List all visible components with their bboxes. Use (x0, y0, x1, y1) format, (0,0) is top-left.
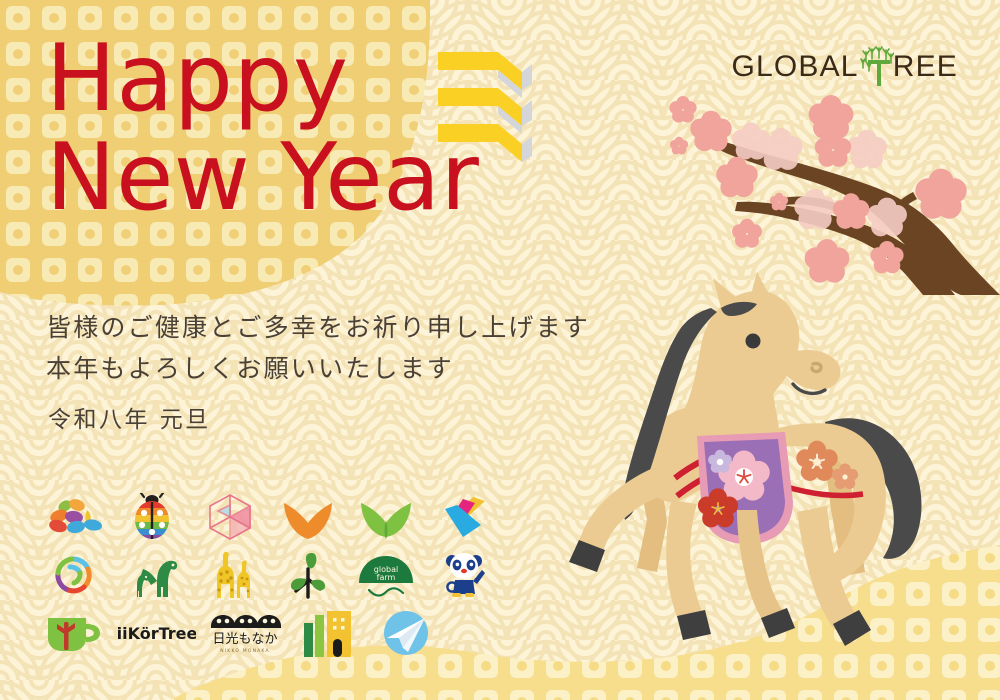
brand-name-before: GLOBAL (731, 50, 858, 84)
logo-yellow-giraffes (196, 549, 264, 601)
horse-eye (746, 334, 761, 349)
horse-front-leg-standing (666, 500, 703, 622)
logo-global-farm-line2: farm (377, 573, 396, 582)
logo-iikortree-text: iiKörTree (118, 624, 196, 643)
logo-nikko-monaka: 日光もなか NIKKO MONAKA (206, 607, 284, 659)
tree-icon (860, 46, 894, 88)
logo-abstract-petals (40, 491, 108, 543)
logo-nikko-monaka-subtext: NIKKO MONAKA (220, 648, 270, 654)
brand-logo: GLOBAL REE (731, 46, 958, 88)
headline: Happy New Year (46, 32, 479, 224)
logo-iikortree: iiKörTree (118, 607, 196, 659)
horse-ear-front (749, 272, 771, 303)
brand-name-after: REE (893, 50, 958, 84)
logo-row-1 (40, 488, 510, 546)
logo-row-2: global farm (40, 546, 510, 604)
logo-rainbow-ladybug (118, 491, 186, 543)
headline-line-2: New Year (46, 131, 479, 224)
logo-buildings (294, 607, 362, 659)
three-stacked-chevrons-icon (430, 42, 540, 162)
logo-green-cup-tree (40, 607, 108, 659)
greeting-date: 令和八年 元旦 (48, 400, 211, 434)
logo-green-dinosaurs (118, 549, 186, 601)
logo-blue-panda (430, 549, 498, 601)
logo-orange-tulip (274, 491, 342, 543)
logo-paper-plane (372, 607, 440, 659)
new-year-horse-illustration (525, 272, 1000, 662)
logo-global-farm: global farm (352, 549, 420, 601)
greeting-message: 皆様のご健康とご多幸をお祈り申し上げます 本年もよろしくお願いいたします (46, 308, 590, 389)
greeting-line-1: 皆様のご健康とご多幸をお祈り申し上げます (46, 308, 590, 349)
greeting-line-2: 本年もよろしくお願いいたします (46, 349, 590, 390)
partner-logo-grid: global farm (40, 488, 510, 662)
logo-green-leaves (352, 491, 420, 543)
cherry-blossom-branch-illustration (655, 90, 1000, 295)
logo-pink-cube (196, 491, 264, 543)
new-year-card: Happy New Year GLOBAL (0, 0, 1000, 700)
logo-rainbow-swirl (40, 549, 108, 601)
logo-sprout-plant (274, 549, 342, 601)
headline-line-1: Happy (46, 32, 479, 125)
logo-cmyk-arrow (430, 491, 498, 543)
logo-row-3: iiKörTree 日光もなか NIKKO MON (40, 604, 510, 662)
logo-nikko-monaka-text: 日光もなか (212, 632, 277, 647)
